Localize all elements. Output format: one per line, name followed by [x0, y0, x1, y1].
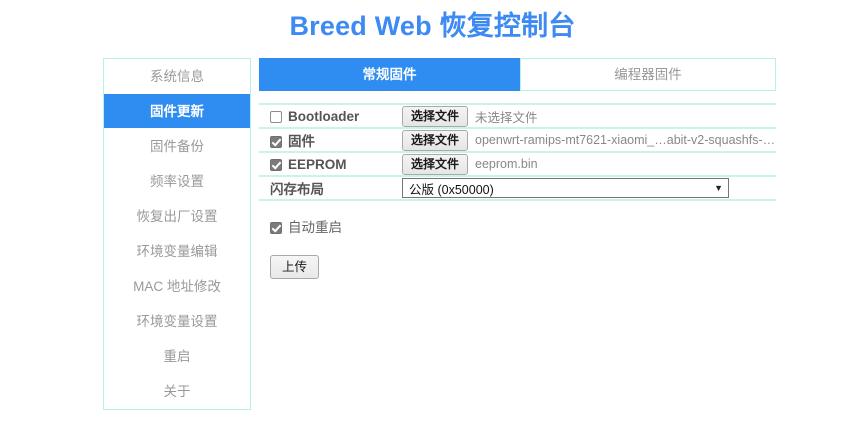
- eeprom-file-input[interactable]: 选择文件 eeprom.bin: [402, 154, 538, 174]
- tab-programmer-firmware[interactable]: 编程器固件: [520, 58, 776, 91]
- sidebar-item-reboot[interactable]: 重启: [104, 339, 250, 374]
- sidebar-item-frequency-settings[interactable]: 频率设置: [104, 164, 250, 199]
- flash-layout-selected-value: 公版 (0x50000): [409, 179, 494, 198]
- firmware-checkbox[interactable]: [270, 136, 282, 148]
- eeprom-file-name: eeprom.bin: [475, 157, 538, 171]
- table-row-bootloader: Bootloader 选择文件 未选择文件: [259, 104, 776, 128]
- sidebar-item-firmware-backup[interactable]: 固件备份: [104, 129, 250, 164]
- table-row-flash-layout: 闪存布局 公版 (0x50000) ▼: [259, 176, 776, 200]
- bootloader-field-cell: 选择文件 未选择文件: [398, 104, 776, 128]
- auto-reboot-label: 自动重启: [288, 220, 342, 235]
- bootloader-label: Bootloader: [288, 109, 359, 124]
- sidebar-item-firmware-update[interactable]: 固件更新: [104, 94, 250, 129]
- sidebar-item-env-var-editor[interactable]: 环境变量编辑: [104, 234, 250, 269]
- sidebar-item-env-var-settings[interactable]: 环境变量设置: [104, 304, 250, 339]
- flash-layout-select[interactable]: 公版 (0x50000) ▼: [402, 178, 729, 198]
- firmware-choose-file-button[interactable]: 选择文件: [402, 130, 468, 151]
- flash-layout-label: 闪存布局: [259, 176, 398, 200]
- eeprom-label-cell: EEPROM: [259, 152, 398, 176]
- bootloader-label-cell: Bootloader: [259, 104, 398, 128]
- eeprom-label: EEPROM: [288, 157, 347, 172]
- table-row-eeprom: EEPROM 选择文件 eeprom.bin: [259, 152, 776, 176]
- sidebar-item-mac-address[interactable]: MAC 地址修改: [104, 269, 250, 304]
- eeprom-field-cell: 选择文件 eeprom.bin: [398, 152, 776, 176]
- auto-reboot-checkbox[interactable]: [270, 222, 282, 234]
- firmware-label: 固件: [288, 134, 315, 149]
- eeprom-choose-file-button[interactable]: 选择文件: [402, 154, 468, 175]
- main-content: 常规固件 编程器固件 Bootloader 选择文件 未选择文件: [259, 55, 776, 279]
- eeprom-checkbox[interactable]: [270, 159, 282, 171]
- firmware-file-input[interactable]: 选择文件 openwrt-ramips-mt7621-xiaomi_…abit-…: [402, 130, 776, 150]
- chevron-down-icon: ▼: [714, 184, 723, 193]
- bootloader-choose-file-button[interactable]: 选择文件: [402, 106, 468, 127]
- sidebar-item-factory-reset[interactable]: 恢复出厂设置: [104, 199, 250, 234]
- firmware-label-cell: 固件: [259, 128, 398, 152]
- sidebar-item-system-info[interactable]: 系统信息: [104, 59, 250, 94]
- flash-layout-field-cell: 公版 (0x50000) ▼: [398, 176, 776, 200]
- page-title: Breed Web 恢复控制台: [0, 0, 865, 43]
- firmware-file-name: openwrt-ramips-mt7621-xiaomi_…abit-v2-sq…: [475, 133, 776, 147]
- table-row-firmware: 固件 选择文件 openwrt-ramips-mt7621-xiaomi_…ab…: [259, 128, 776, 152]
- sidebar-item-about[interactable]: 关于: [104, 374, 250, 409]
- sidebar: 系统信息 固件更新 固件备份 频率设置 恢复出厂设置 环境变量编辑 MAC 地址…: [103, 58, 251, 410]
- page-layout: 系统信息 固件更新 固件备份 频率设置 恢复出厂设置 环境变量编辑 MAC 地址…: [0, 55, 865, 433]
- tab-bar: 常规固件 编程器固件: [259, 58, 776, 91]
- bootloader-file-input[interactable]: 选择文件 未选择文件: [402, 106, 538, 126]
- bootloader-checkbox[interactable]: [270, 111, 282, 123]
- upload-button[interactable]: 上传: [270, 255, 319, 279]
- tab-regular-firmware[interactable]: 常规固件: [259, 58, 520, 91]
- firmware-field-cell: 选择文件 openwrt-ramips-mt7621-xiaomi_…abit-…: [398, 128, 776, 152]
- bootloader-file-name: 未选择文件: [475, 107, 538, 126]
- auto-reboot-row: 自动重启: [259, 216, 776, 236]
- firmware-form-table: Bootloader 选择文件 未选择文件 固件: [259, 103, 776, 201]
